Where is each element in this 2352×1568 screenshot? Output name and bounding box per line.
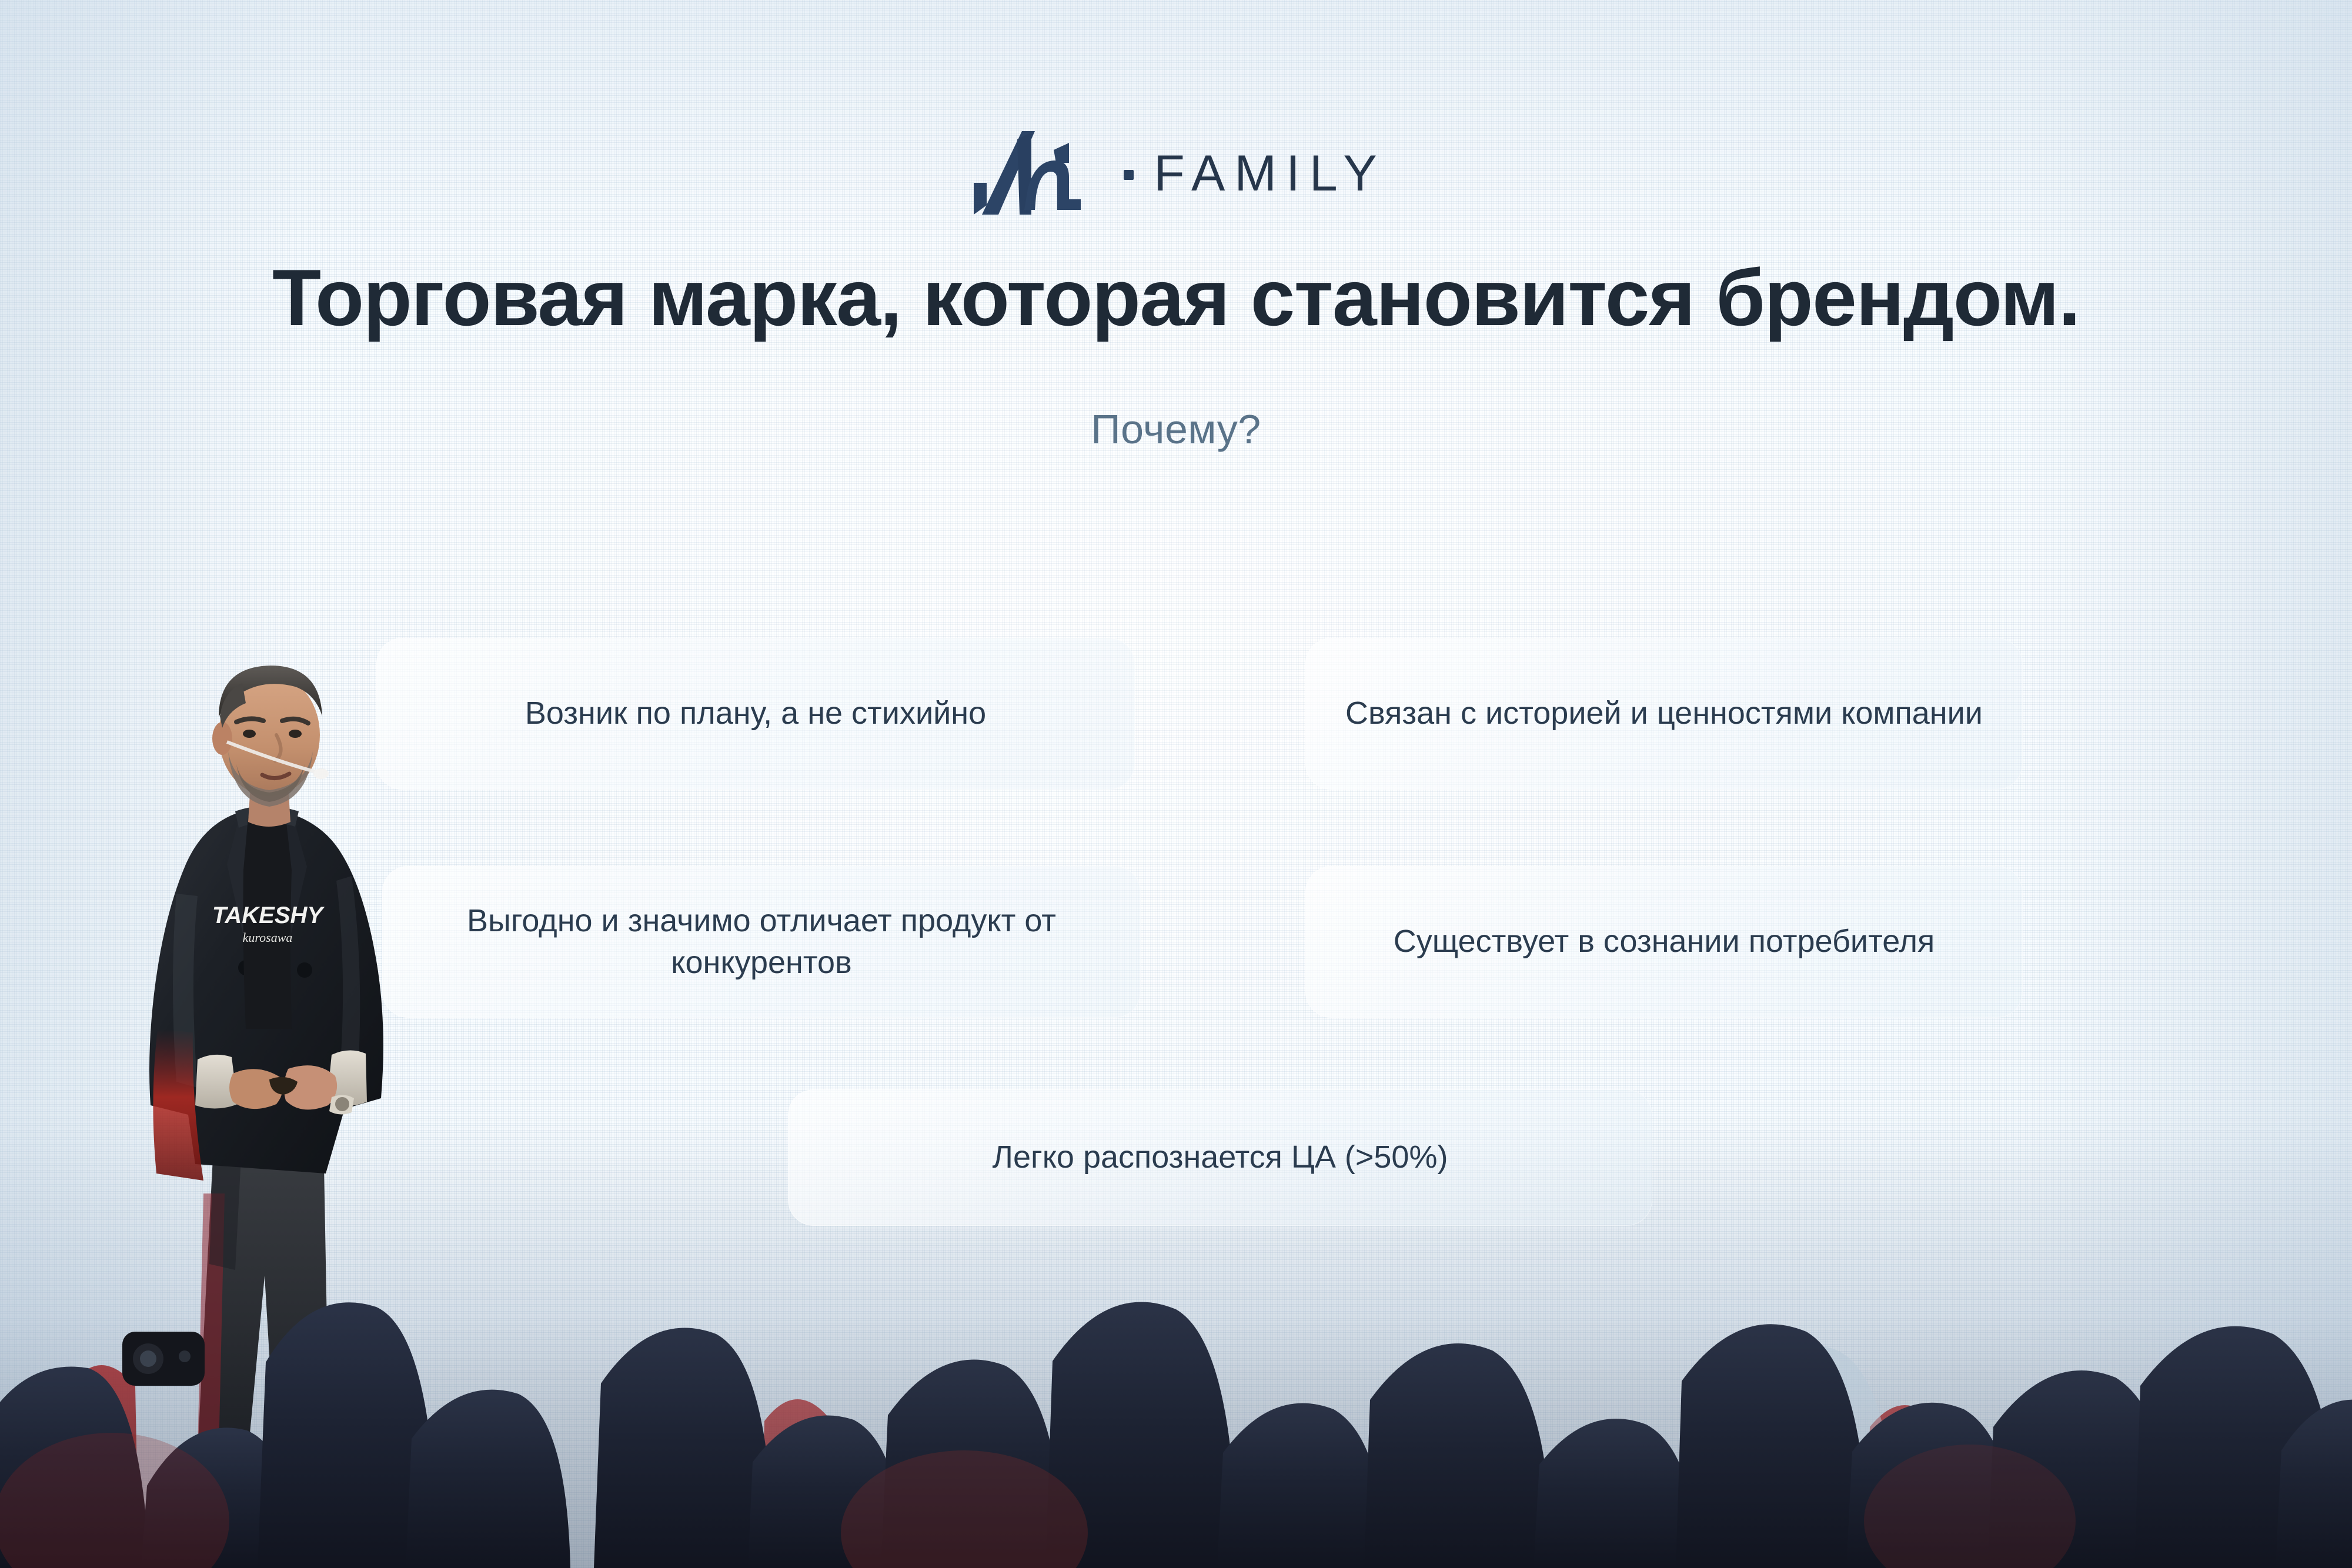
card-history: Связан с историей и ценностями компании [1305,638,2023,790]
card-consciousness: Существует в сознании потребителя [1305,866,2023,1018]
speaker-figure: TAKESHY kurosawa [88,617,559,1452]
speaker-head [212,666,329,827]
slide-subheadline: Почему? [0,406,2352,453]
speaker-trousers [198,1135,329,1452]
card-recognition: Легко распознается ЦА (>50%) [788,1089,1652,1226]
slide-headline: Торговая марка, которая становится бренд… [0,256,2352,340]
m-monogram-icon [965,126,1104,215]
brand-logo-lockup: FAMILY [0,126,2352,215]
dot-separator-icon [1124,170,1134,180]
tshirt-subprint: kurosawa [243,930,293,945]
brand-wordmark: FAMILY [1154,145,1387,203]
tshirt-print: TAKESHY [212,902,325,928]
slide-card-grid: Возник по плану, а не стихийно Связан с … [376,638,2023,1243]
presentation-photo-stage: FAMILY Торговая марка, которая становитс… [0,0,2352,1568]
